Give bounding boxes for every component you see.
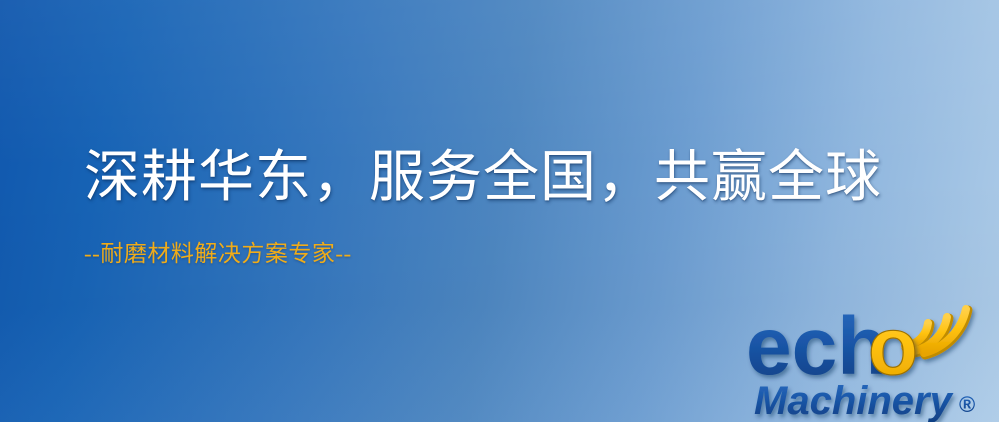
banner-headline: 深耕华东，服务全国，共赢全球 [84, 147, 954, 210]
promotional-banner: 深耕华东，服务全国，共赢全球 --耐磨材料解决方案专家-- [0, 0, 999, 422]
banner-copy-block: 深耕华东，服务全国，共赢全球 --耐磨材料解决方案专家-- [84, 147, 954, 267]
registered-trademark-icon: ® [959, 392, 975, 417]
logo-artwork: ech o Machinery ® [744, 296, 996, 422]
banner-subheadline: --耐磨材料解决方案专家-- [84, 240, 954, 268]
company-logo[interactable]: ech o Machinery ® [744, 296, 996, 422]
logo-text-machinery: Machinery [754, 379, 954, 422]
